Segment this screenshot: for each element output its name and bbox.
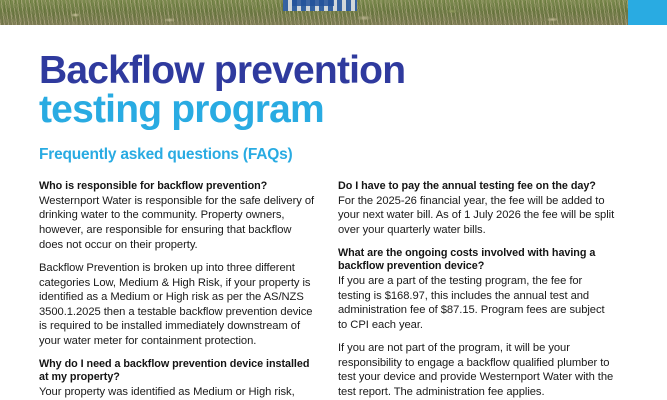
faq-item: Who is responsible for backflow preventi… <box>39 180 316 348</box>
faq-item: What are the ongoing costs involved with… <box>338 247 615 400</box>
faq-question: What are the ongoing costs involved with… <box>338 247 615 274</box>
faq-columns: Who is responsible for backflow preventi… <box>39 164 628 399</box>
faq-answer: For the 2025-26 financial year, the fee … <box>338 194 615 238</box>
hero-photo-backflow-device-body <box>292 0 334 6</box>
faq-question: Who is responsible for backflow preventi… <box>39 180 316 194</box>
faq-answer: Backflow Prevention is broken up into th… <box>39 261 316 348</box>
faq-answer: If you are a part of the testing program… <box>338 274 615 332</box>
faq-answer: Your property was identified as Medium o… <box>39 385 316 400</box>
hero-banner <box>0 0 667 25</box>
faq-answer: Westernport Water is responsible for the… <box>39 194 316 252</box>
page-title: Backflow prevention testing program <box>39 25 628 129</box>
faq-column-left: Who is responsible for backflow preventi… <box>39 180 316 399</box>
faq-question: Do I have to pay the annual testing fee … <box>338 180 615 194</box>
faq-answer: If you are not part of the program, it w… <box>338 341 615 399</box>
faq-question: Why do I need a backflow prevention devi… <box>39 358 316 385</box>
faq-subtitle: Frequently asked questions (FAQs) <box>39 129 628 164</box>
faq-item: Why do I need a backflow prevention devi… <box>39 358 316 400</box>
page-title-line-2: testing program <box>39 91 628 130</box>
page-content: Backflow prevention testing program Freq… <box>0 25 667 400</box>
page-title-line-1: Backflow prevention <box>39 52 628 91</box>
hero-accent-swatch <box>628 0 667 25</box>
faq-item: Do I have to pay the annual testing fee … <box>338 180 615 237</box>
faq-column-right: Do I have to pay the annual testing fee … <box>338 180 615 399</box>
